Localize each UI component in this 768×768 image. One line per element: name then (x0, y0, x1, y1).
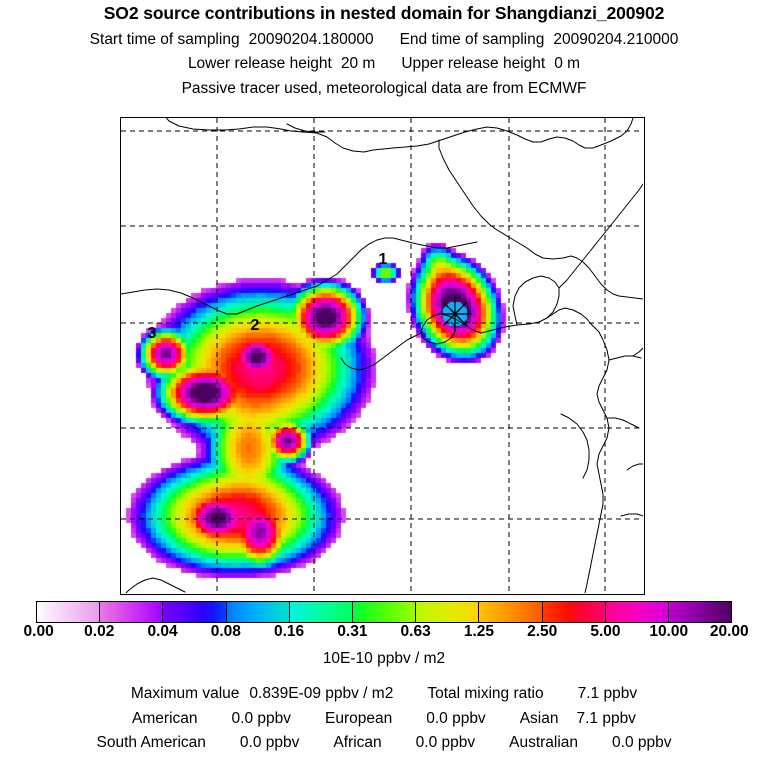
colorbar-segment-7 (479, 602, 542, 622)
colorbar-segment-4 (290, 602, 353, 622)
region-label-south-american: South American (96, 734, 205, 751)
colorbar-tick-5: 0.31 (337, 624, 367, 640)
total-mixing-ratio-value: 7.1 ppbv (578, 685, 637, 702)
colorbar-segment-0 (37, 602, 100, 622)
region-label-australian: Australian (509, 734, 578, 751)
colorbar-segment-1 (100, 602, 163, 622)
colorbar-segment-8 (543, 602, 606, 622)
region-value-african: 0.0 ppbv (416, 734, 475, 751)
total-mixing-ratio-label: Total mixing ratio (427, 685, 543, 702)
colorbar-tick-7: 1.25 (464, 624, 494, 640)
tracer-note: Passive tracer used, meteorological data… (0, 81, 768, 97)
max-value-value: 0.839E-09 ppbv / m2 (249, 685, 393, 702)
start-time-value: 20090204.180000 (249, 31, 374, 48)
colorbar-segment-6 (416, 602, 479, 622)
colorbar-tick-11: 20.00 (710, 624, 749, 640)
upper-release-height-value: 0 m (554, 55, 580, 72)
stats-row-secondary: South American0.0 ppbvAfrican0.0 ppbvAus… (0, 735, 768, 751)
colorbar[interactable] (36, 601, 732, 623)
colorbar-segment-9 (606, 602, 669, 622)
region-value-australian: 0.0 ppbv (612, 734, 671, 751)
colorbar-unit-label: 10E-10 ppbv / m2 (0, 651, 768, 667)
colorbar-tick-2: 0.04 (147, 624, 177, 640)
region-label-european: European (325, 710, 392, 727)
lower-release-height-label: Lower release height (188, 55, 332, 72)
page-title: SO2 source contributions in nested domai… (0, 5, 768, 23)
concentration-field-canvas (121, 118, 643, 593)
colorbar-tick-4: 0.16 (274, 624, 304, 640)
region-label-african: African (333, 734, 381, 751)
region-value-asian: 7.1 ppbv (576, 710, 635, 727)
end-time-label: End time of sampling (400, 31, 545, 48)
stats-row-max: Maximum value0.839E-09 ppbv / m2Total mi… (0, 686, 768, 702)
figure-header: SO2 source contributions in nested domai… (0, 0, 768, 96)
start-time-label: Start time of sampling (90, 31, 240, 48)
colorbar-tick-3: 0.08 (211, 624, 241, 640)
region-value-american: 0.0 ppbv (232, 710, 291, 727)
colorbar-tick-9: 5.00 (590, 624, 620, 640)
colorbar-segment-2 (163, 602, 226, 622)
colorbar-segment-5 (353, 602, 416, 622)
colorbar-segment-3 (227, 602, 290, 622)
stats-row-primary: American0.0 ppbvEuropean0.0 ppbvAsian7.1… (0, 711, 768, 727)
statistics-footer: Maximum value0.839E-09 ppbv / m2Total mi… (0, 686, 768, 760)
map-plot-area[interactable]: 123 (120, 117, 645, 595)
colorbar-tick-labels: 0.000.020.040.080.160.310.631.252.505.00… (0, 624, 768, 644)
max-value-label: Maximum value (131, 685, 240, 702)
region-value-european: 0.0 ppbv (426, 710, 485, 727)
region-label-american: American (132, 710, 197, 727)
lower-release-height-value: 20 m (341, 55, 375, 72)
colorbar-tick-1: 0.02 (84, 624, 114, 640)
region-value-south-american: 0.0 ppbv (240, 734, 299, 751)
colorbar-tick-6: 0.63 (401, 624, 431, 640)
end-time-value: 20090204.210000 (553, 31, 678, 48)
colorbar-tick-8: 2.50 (527, 624, 557, 640)
colorbar-tick-0: 0.00 (24, 624, 54, 640)
release-height-line: Lower release height20 mUpper release he… (0, 56, 768, 72)
colorbar-tick-10: 10.00 (649, 624, 688, 640)
upper-release-height-label: Upper release height (401, 55, 545, 72)
colorbar-container (36, 601, 732, 623)
figure-root: SO2 source contributions in nested domai… (0, 0, 768, 768)
sampling-time-line: Start time of sampling20090204.180000End… (0, 32, 768, 48)
region-label-asian: Asian (520, 710, 559, 727)
colorbar-segment-10 (669, 602, 731, 622)
